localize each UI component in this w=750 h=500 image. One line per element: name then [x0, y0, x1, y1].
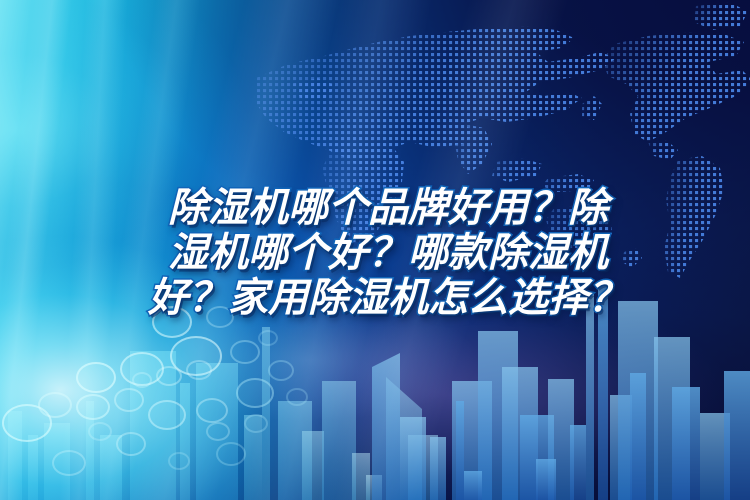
- bokeh-circle: [168, 452, 190, 470]
- bokeh-circle: [230, 340, 260, 364]
- bokeh-circle: [196, 398, 228, 423]
- bokeh-circle: [286, 388, 308, 406]
- bokeh-circle: [76, 362, 116, 393]
- bokeh-circle: [258, 330, 278, 346]
- bokeh-circle: [88, 422, 112, 441]
- bokeh-circle: [244, 414, 268, 433]
- bokeh-circle: [132, 372, 152, 388]
- bokeh-circle: [116, 432, 146, 456]
- headline-line-1: 除湿机哪个品牌好用？除: [118, 186, 658, 231]
- bokeh-circle: [38, 392, 72, 418]
- bokeh-circle: [206, 422, 230, 441]
- bokeh-circle: [236, 378, 274, 408]
- bokeh-circle: [52, 450, 86, 476]
- bokeh-circle: [186, 360, 212, 380]
- headline-line-2: 湿机哪个好？哪款除湿机: [118, 231, 658, 276]
- bokeh-circle: [76, 394, 110, 420]
- bokeh-circle: [216, 442, 246, 466]
- bokeh-circle: [148, 400, 186, 430]
- bokeh-circle: [114, 388, 144, 412]
- banner-headline: 除湿机哪个品牌好用？除 湿机哪个好？哪款除湿机 好？家用除湿机怎么选择？: [118, 186, 658, 321]
- headline-line-3: 好？家用除湿机怎么选择？: [118, 276, 658, 321]
- bokeh-circle: [268, 360, 294, 381]
- banner-image: 除湿机哪个品牌好用？除 湿机哪个好？哪款除湿机 好？家用除湿机怎么选择？: [0, 0, 750, 500]
